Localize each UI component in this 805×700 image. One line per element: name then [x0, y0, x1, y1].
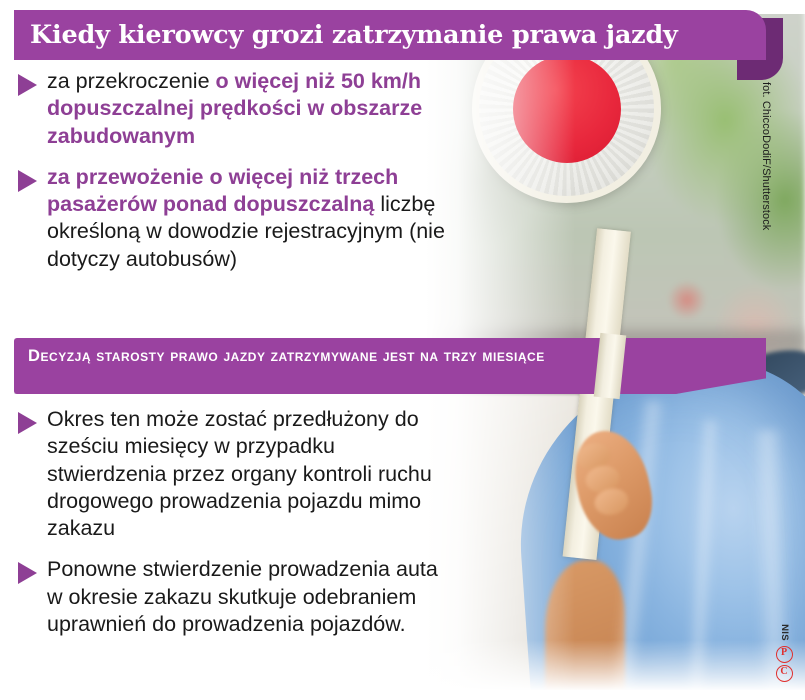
infographic-root: Kiedy kierowcy grozi zatrzymanie prawa j…	[0, 0, 805, 700]
bullet-speeding-text: za przekroczenie o więcej niż 50 km/h do…	[47, 68, 447, 150]
copyright-mark: NIS P C	[770, 627, 798, 682]
bullet-passengers: za przewożenie o więcej niż trzech pasaż…	[0, 164, 470, 273]
photo-credit: fot. ChiccoDodiF/Shutterstock	[760, 82, 772, 312]
plain-text: Ponowne stwierdzenie prowadzenia auta w …	[47, 557, 438, 636]
arrow-bullet-icon	[16, 560, 40, 586]
arrow-bullet-icon	[16, 410, 40, 436]
plain-text: za przekroczenie	[47, 69, 216, 93]
bullet-extension: Okres ten może zostać przedłużony do sze…	[0, 406, 470, 542]
copyright-label: NIS	[779, 624, 790, 641]
header-bar: Kiedy kierowcy grozi zatrzymanie prawa j…	[14, 10, 766, 60]
mid-banner-text: Decyzją starosty prawo jazdy zatrzymywan…	[28, 345, 628, 367]
bullet-extension-text: Okres ten może zostać przedłużony do sze…	[47, 406, 447, 542]
plain-text: Okres ten może zostać przedłużony do sze…	[47, 407, 432, 540]
registered-p-icon: P	[776, 646, 793, 663]
page-title: Kiedy kierowcy grozi zatrzymanie prawa j…	[14, 20, 678, 50]
bullet-speeding: za przekroczenie o więcej niż 50 km/h do…	[0, 68, 470, 150]
bullet-passengers-text: za przewożenie o więcej niż trzech pasaż…	[47, 164, 447, 273]
bullet-repeat-offence-text: Ponowne stwierdzenie prowadzenia auta w …	[47, 556, 447, 638]
bullet-repeat-offence: Ponowne stwierdzenie prowadzenia auta w …	[0, 556, 470, 638]
arrow-bullet-icon	[16, 168, 40, 194]
top-bullet-list: za przekroczenie o więcej niż 50 km/h do…	[0, 68, 470, 287]
stop-paddle-red-circle	[513, 55, 621, 163]
bottom-bullet-list: Okres ten może zostać przedłużony do sze…	[0, 406, 470, 652]
copyright-c-icon: C	[776, 665, 793, 682]
arrow-bullet-icon	[16, 72, 40, 98]
emphasised-text: za przewożenie o więcej niż trzech pasaż…	[47, 165, 398, 216]
mid-banner: Decyzją starosty prawo jazdy zatrzymywan…	[14, 338, 766, 394]
